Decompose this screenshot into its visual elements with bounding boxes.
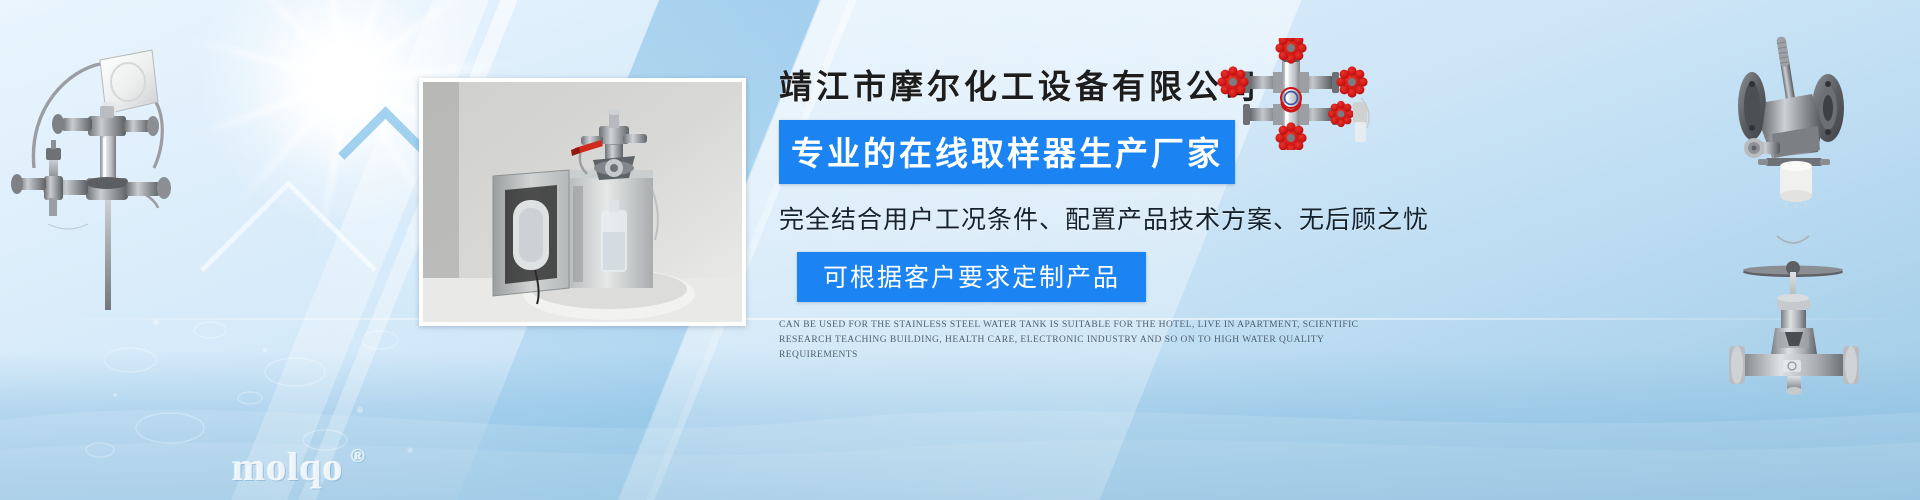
image-online-sampler-with-gauge — [8, 28, 188, 310]
registered-trademark-icon: ® — [351, 446, 366, 468]
slogan-primary: 专业的在线取样器生产厂家 — [779, 120, 1235, 184]
slogan-secondary: 完全结合用户工况条件、配置产品技术方案、无后顾之忧 — [779, 200, 1409, 236]
slogan-custom-pill: 可根据客户要求定制产品 — [797, 252, 1146, 302]
watermark-logo: molqo ® — [232, 443, 366, 490]
image-red-handwheel-valve-cross — [1213, 38, 1373, 150]
image-cabinet-sampler-photo — [419, 78, 746, 326]
product-banner: 靖江市摩尔化工设备有限公司 专业的在线取样器生产厂家 完全结合用户工况条件、配置… — [0, 0, 1920, 500]
image-lever-handle-flanged-valve — [1700, 26, 1880, 208]
image-needle-valve-assembly — [1715, 228, 1875, 396]
watermark-text: molqo — [232, 443, 344, 490]
english-description: CAN BE USED FOR THE STAINLESS STEEL WATE… — [779, 318, 1379, 363]
